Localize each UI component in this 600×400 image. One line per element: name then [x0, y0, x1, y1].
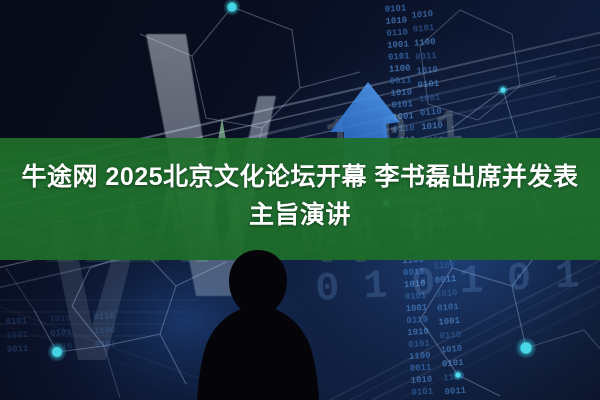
svg-text:1010: 1010 — [410, 375, 432, 386]
svg-text:0101: 0101 — [5, 316, 28, 327]
svg-text:1010: 1010 — [440, 344, 462, 356]
svg-text:1010: 1010 — [385, 15, 407, 26]
svg-text:1100: 1100 — [409, 351, 431, 362]
svg-text:1001: 1001 — [418, 93, 441, 105]
svg-text:0101: 0101 — [412, 23, 435, 35]
svg-text:1010: 1010 — [390, 87, 412, 98]
svg-text:1010: 1010 — [49, 314, 71, 325]
svg-text:1001: 1001 — [6, 330, 29, 341]
svg-text:0110: 0110 — [406, 315, 428, 326]
svg-text:1001: 1001 — [438, 316, 461, 328]
svg-text:1010: 1010 — [407, 327, 429, 338]
svg-text:0101: 0101 — [388, 51, 411, 63]
svg-text:0101: 0101 — [417, 79, 440, 91]
svg-text:0101: 0101 — [408, 339, 431, 351]
page-title: 牛途网 2025北京文化论坛开幕 李书磊出席并发表主旨演讲 — [0, 158, 600, 234]
svg-text:1010: 1010 — [411, 9, 433, 21]
svg-text:0101: 0101 — [411, 386, 434, 398]
svg-text:0101: 0101 — [442, 358, 465, 370]
svg-text:0110: 0110 — [439, 330, 461, 342]
svg-text:0101: 0101 — [50, 328, 73, 339]
svg-text:1010: 1010 — [416, 65, 438, 77]
svg-text:0011: 0011 — [389, 75, 412, 87]
person-silhouette-icon — [196, 248, 320, 400]
svg-text:1100: 1100 — [389, 63, 411, 74]
svg-text:1100: 1100 — [414, 37, 436, 49]
svg-text:0101: 0101 — [384, 3, 407, 15]
svg-text:0011: 0011 — [7, 344, 30, 355]
svg-text:0011: 0011 — [410, 363, 433, 375]
svg-text:1001: 1001 — [387, 39, 410, 51]
svg-text:0011: 0011 — [415, 51, 438, 63]
svg-text:0110: 0110 — [386, 27, 408, 38]
svg-text:0011: 0011 — [444, 385, 467, 397]
news-banner: 0101 1010 0110 1001 0101 1100 0011 1010 … — [0, 0, 600, 400]
